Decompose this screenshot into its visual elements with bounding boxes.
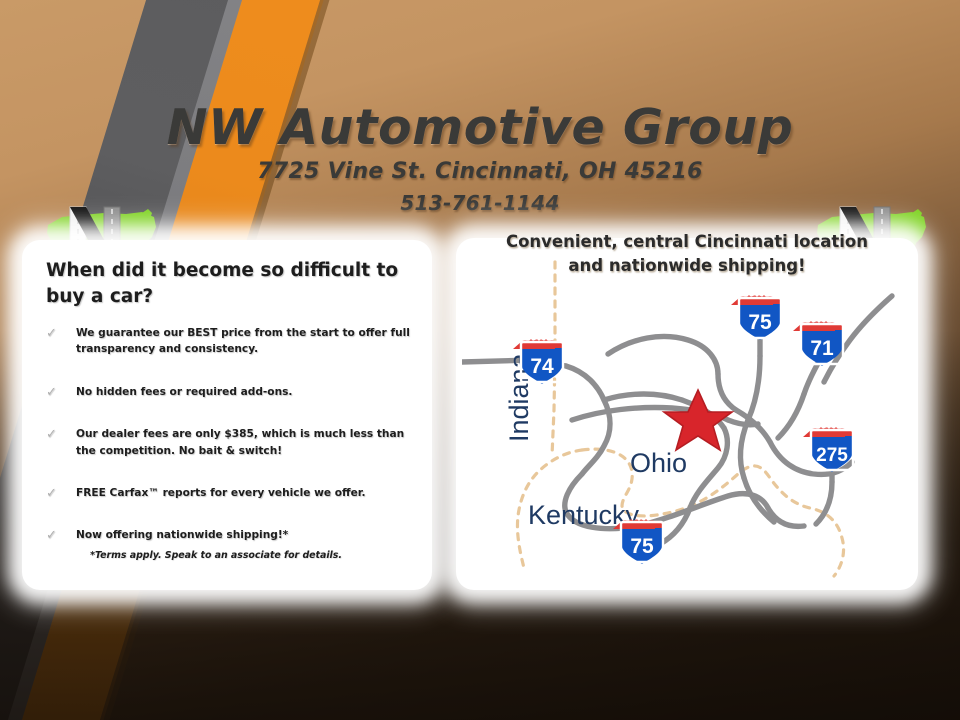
list-item-label: No hidden fees or required add-ons. <box>76 386 292 398</box>
svg-text:75: 75 <box>630 535 654 558</box>
page-title: When did it become so difficult to buy a… <box>46 258 410 311</box>
interstate-shield-275: 275 <box>803 427 853 472</box>
map-caption-line1: Convenient, central Cincinnati location <box>456 230 918 254</box>
checkmark-icon: ✓ <box>46 526 57 546</box>
svg-text:71: 71 <box>810 337 834 360</box>
benefits-list: ✓ We guarantee our BEST price from the s… <box>40 325 420 570</box>
list-item-label: Our dealer fees are only $385, which is … <box>76 428 404 456</box>
list-item-label: FREE Carfax™ reports for every vehicle w… <box>76 487 366 499</box>
map-caption-line2: and nationwide shipping! <box>456 254 918 278</box>
slide-header: NW Automotive Group 7725 Vine St. Cincin… <box>0 95 960 230</box>
value-proposition-panel: When did it become so difficult to buy a… <box>22 240 432 590</box>
list-item: ✓ We guarantee our BEST price from the s… <box>40 325 420 358</box>
cincinnati-region-map[interactable]: Indiana Ohio Kentucky 74 75 71 <box>462 260 912 578</box>
slide-canvas: NW Automotive Group 7725 Vine St. Cincin… <box>0 0 960 720</box>
list-item-label: Now offering nationwide shipping!* <box>76 529 288 541</box>
interstate-shield-75-south: 75 <box>613 519 663 564</box>
checkmark-icon: ✓ <box>46 484 57 504</box>
checkmark-icon: ✓ <box>46 425 57 445</box>
svg-text:275: 275 <box>816 445 848 466</box>
map-graphic: Indiana Ohio Kentucky 74 75 71 <box>462 260 912 578</box>
list-item: ✓ Now offering nationwide shipping!* <box>40 527 420 543</box>
svg-text:74: 74 <box>530 355 554 378</box>
terms-disclaimer: *Terms apply. Speak to an associate for … <box>22 550 410 561</box>
checkmark-icon: ✓ <box>46 324 57 344</box>
list-item: ✓ No hidden fees or required add-ons. <box>40 384 420 400</box>
brand-title: NW Automotive Group <box>0 99 960 156</box>
map-panel: Convenient, central Cincinnati location … <box>456 238 918 590</box>
svg-text:75: 75 <box>748 311 772 334</box>
interstate-shield-75-north: 75 <box>731 295 781 340</box>
map-caption: Convenient, central Cincinnati location … <box>456 230 918 278</box>
list-item: ✓ FREE Carfax™ reports for every vehicle… <box>40 485 420 501</box>
checkmark-icon: ✓ <box>46 383 57 403</box>
list-item-label: We guarantee our BEST price from the sta… <box>76 327 410 355</box>
interstate-shield-74: 74 <box>513 339 563 384</box>
brand-address: 7725 Vine St. Cincinnati, OH 45216 <box>0 159 960 184</box>
state-label-ohio: Ohio <box>630 448 687 478</box>
list-item: ✓ Our dealer fees are only $385, which i… <box>40 426 420 459</box>
